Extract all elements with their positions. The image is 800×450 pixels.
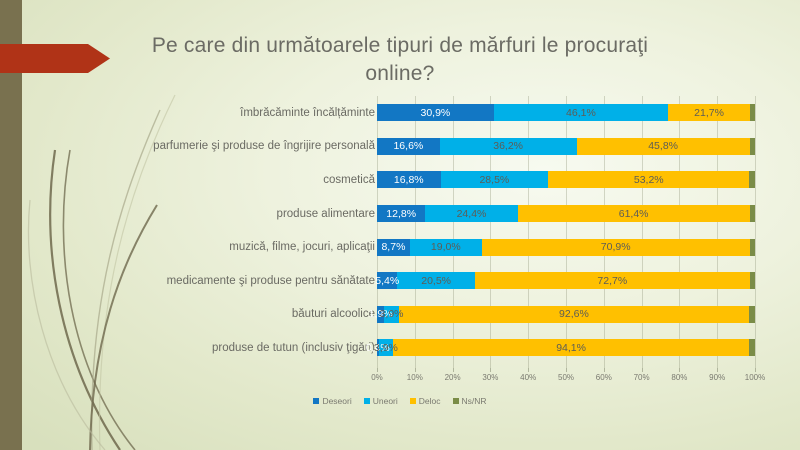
legend-item-uneori[interactable]: Uneori bbox=[364, 396, 398, 406]
chart-row: muzică, filme, jocuri, aplicaţii8,7%19,0… bbox=[0, 230, 800, 264]
legend-swatch bbox=[364, 398, 370, 404]
chart-row: produse alimentare12,8%24,4%61,4% bbox=[0, 197, 800, 231]
bar-segment-ns-nr bbox=[750, 138, 755, 155]
bar-segment-ns-nr bbox=[749, 171, 755, 188]
chart-row: băuturi alcoolice1,9%3,9%92,6% bbox=[0, 298, 800, 332]
legend-swatch bbox=[453, 398, 459, 404]
bar-segment-deseori: 16,8% bbox=[377, 171, 441, 188]
category-label: îmbrăcăminte încălțăminte bbox=[0, 107, 377, 119]
bar-value-label: 61,4% bbox=[619, 208, 649, 220]
bar-value-label: 70,9% bbox=[601, 241, 631, 253]
bar-segment-ns-nr bbox=[749, 339, 755, 356]
bar-value-label: 46,1% bbox=[566, 107, 596, 119]
axis-tick bbox=[642, 368, 643, 372]
bar-segment-ns-nr bbox=[750, 272, 755, 289]
bar-segment-deloc: 70,9% bbox=[482, 239, 750, 256]
bar-value-label: 12,8% bbox=[386, 208, 416, 220]
axis-tick bbox=[415, 368, 416, 372]
bar-segment-deloc: 21,7% bbox=[668, 104, 750, 121]
bar-segment-deloc: 53,2% bbox=[548, 171, 749, 188]
axis-tick-label: 20% bbox=[445, 373, 461, 382]
bar-segment-deloc: 45,8% bbox=[577, 138, 750, 155]
axis-tick bbox=[604, 368, 605, 372]
axis-tick-label: 10% bbox=[407, 373, 423, 382]
axis-tick-label: 90% bbox=[709, 373, 725, 382]
bar-value-label: 30,9% bbox=[421, 107, 451, 119]
bar-value-label: 28,5% bbox=[479, 174, 509, 186]
category-label: băuturi alcoolice bbox=[0, 308, 377, 320]
bar-value-label: 45,8% bbox=[648, 140, 678, 152]
category-label: medicamente şi produse pentru sănătate bbox=[0, 275, 377, 287]
bar-value-label: 53,2% bbox=[634, 174, 664, 186]
bar-segment-uneori: 24,4% bbox=[425, 205, 517, 222]
axis-tick-label: 30% bbox=[482, 373, 498, 382]
bar-value-label: 8,7% bbox=[381, 241, 405, 253]
category-label: muzică, filme, jocuri, aplicaţii bbox=[0, 241, 377, 253]
stacked-bar[interactable]: 16,6%36,2%45,8% bbox=[377, 138, 755, 155]
stacked-bar[interactable]: 1,9%3,9%92,6% bbox=[377, 306, 755, 323]
legend-label: Ns/NR bbox=[462, 396, 487, 406]
legend-item-deloc[interactable]: Deloc bbox=[410, 396, 441, 406]
legend-swatch bbox=[313, 398, 319, 404]
axis-tick bbox=[566, 368, 567, 372]
bar-segment-deseori: 16,6% bbox=[377, 138, 440, 155]
category-label: produse de tutun (inclusiv ţigări) bbox=[0, 342, 377, 354]
bar-segment-deseori: 30,9% bbox=[377, 104, 494, 121]
legend-swatch bbox=[410, 398, 416, 404]
bar-value-label: 72,7% bbox=[597, 275, 627, 287]
axis-tick-label: 70% bbox=[634, 373, 650, 382]
axis-tick-label: 0% bbox=[371, 373, 383, 382]
axis-tick-label: 50% bbox=[558, 373, 574, 382]
bar-value-label: 3,9% bbox=[380, 308, 404, 320]
bar-value-label: 20,5% bbox=[421, 275, 451, 287]
bar-segment-ns-nr bbox=[750, 104, 755, 121]
axis-tick-label: 40% bbox=[520, 373, 536, 382]
axis-tick-label: 100% bbox=[745, 373, 765, 382]
bar-segment-uneori: 36,2% bbox=[440, 138, 577, 155]
bar-segment-ns-nr bbox=[749, 306, 755, 323]
chart-row: produse de tutun (inclusiv ţigări)0,4%3,… bbox=[0, 331, 800, 365]
category-label: produse alimentare bbox=[0, 208, 377, 220]
bar-value-label: 3,9% bbox=[374, 342, 398, 354]
legend-item-deseori[interactable]: Deseori bbox=[313, 396, 351, 406]
stacked-bar[interactable]: 5,4%20,5%72,7% bbox=[377, 272, 755, 289]
legend-label: Deloc bbox=[419, 396, 441, 406]
axis-tick-label: 80% bbox=[671, 373, 687, 382]
bar-segment-deloc: 72,7% bbox=[475, 272, 750, 289]
bar-segment-ns-nr bbox=[750, 239, 755, 256]
chart-legend: DeseoriUneoriDelocNs/NR bbox=[0, 396, 800, 406]
stacked-bar[interactable]: 12,8%24,4%61,4% bbox=[377, 205, 755, 222]
bar-segment-uneori: 19,0% bbox=[410, 239, 482, 256]
chart-row: medicamente şi produse pentru sănătate5,… bbox=[0, 264, 800, 298]
bar-value-label: 5,4% bbox=[375, 275, 399, 287]
chart-row: parfumerie şi produse de îngrijire perso… bbox=[0, 130, 800, 164]
stacked-bar[interactable]: 30,9%46,1%21,7% bbox=[377, 104, 755, 121]
axis-tick bbox=[679, 368, 680, 372]
chart-row: cosmetică16,8%28,5%53,2% bbox=[0, 163, 800, 197]
bar-value-label: 94,1% bbox=[556, 342, 586, 354]
category-label: cosmetică bbox=[0, 174, 377, 186]
bar-segment-uneori: 28,5% bbox=[441, 171, 549, 188]
bar-segment-deseori: 12,8% bbox=[377, 205, 425, 222]
axis-tick bbox=[453, 368, 454, 372]
bar-segment-deloc: 92,6% bbox=[399, 306, 749, 323]
legend-label: Uneori bbox=[373, 396, 398, 406]
bar-segment-uneori: 3,9% bbox=[384, 306, 399, 323]
bar-segment-uneori: 20,5% bbox=[397, 272, 474, 289]
x-axis: 0%10%20%30%40%50%60%70%80%90%100% bbox=[377, 368, 755, 388]
stacked-bar[interactable]: 0,4%3,9%94,1% bbox=[377, 339, 755, 356]
legend-item-ns-nr[interactable]: Ns/NR bbox=[453, 396, 487, 406]
legend-label: Deseori bbox=[322, 396, 351, 406]
chart-row: îmbrăcăminte încălțăminte30,9%46,1%21,7% bbox=[0, 96, 800, 130]
bar-segment-deseori: 8,7% bbox=[377, 239, 410, 256]
axis-tick-label: 60% bbox=[596, 373, 612, 382]
bar-segment-deseori: 5,4% bbox=[377, 272, 397, 289]
bar-segment-deloc: 61,4% bbox=[518, 205, 750, 222]
slide-canvas: Pe care din următoarele tipuri de mărfur… bbox=[0, 0, 800, 450]
bar-segment-deloc: 94,1% bbox=[393, 339, 749, 356]
bar-value-label: 36,2% bbox=[493, 140, 523, 152]
axis-tick bbox=[717, 368, 718, 372]
bar-value-label: 19,0% bbox=[431, 241, 461, 253]
bar-segment-ns-nr bbox=[750, 205, 755, 222]
category-label: parfumerie şi produse de îngrijire perso… bbox=[0, 140, 377, 152]
bar-value-label: 16,6% bbox=[393, 140, 423, 152]
stacked-bar-chart: îmbrăcăminte încălțăminte30,9%46,1%21,7%… bbox=[0, 96, 800, 396]
bar-segment-uneori: 3,9% bbox=[379, 339, 394, 356]
stacked-bar[interactable]: 8,7%19,0%70,9% bbox=[377, 239, 755, 256]
axis-tick bbox=[755, 368, 756, 372]
bar-value-label: 24,4% bbox=[457, 208, 487, 220]
bar-value-label: 92,6% bbox=[559, 308, 589, 320]
axis-tick bbox=[490, 368, 491, 372]
bar-segment-uneori: 46,1% bbox=[494, 104, 668, 121]
axis-tick bbox=[377, 368, 378, 372]
chart-rows: îmbrăcăminte încălțăminte30,9%46,1%21,7%… bbox=[0, 96, 800, 365]
decorative-arrow bbox=[0, 40, 110, 77]
axis-tick bbox=[528, 368, 529, 372]
bar-value-label: 21,7% bbox=[694, 107, 724, 119]
bar-value-label: 16,8% bbox=[394, 174, 424, 186]
page-title: Pe care din următoarele tipuri de mărfur… bbox=[150, 32, 650, 89]
stacked-bar[interactable]: 16,8%28,5%53,2% bbox=[377, 171, 755, 188]
